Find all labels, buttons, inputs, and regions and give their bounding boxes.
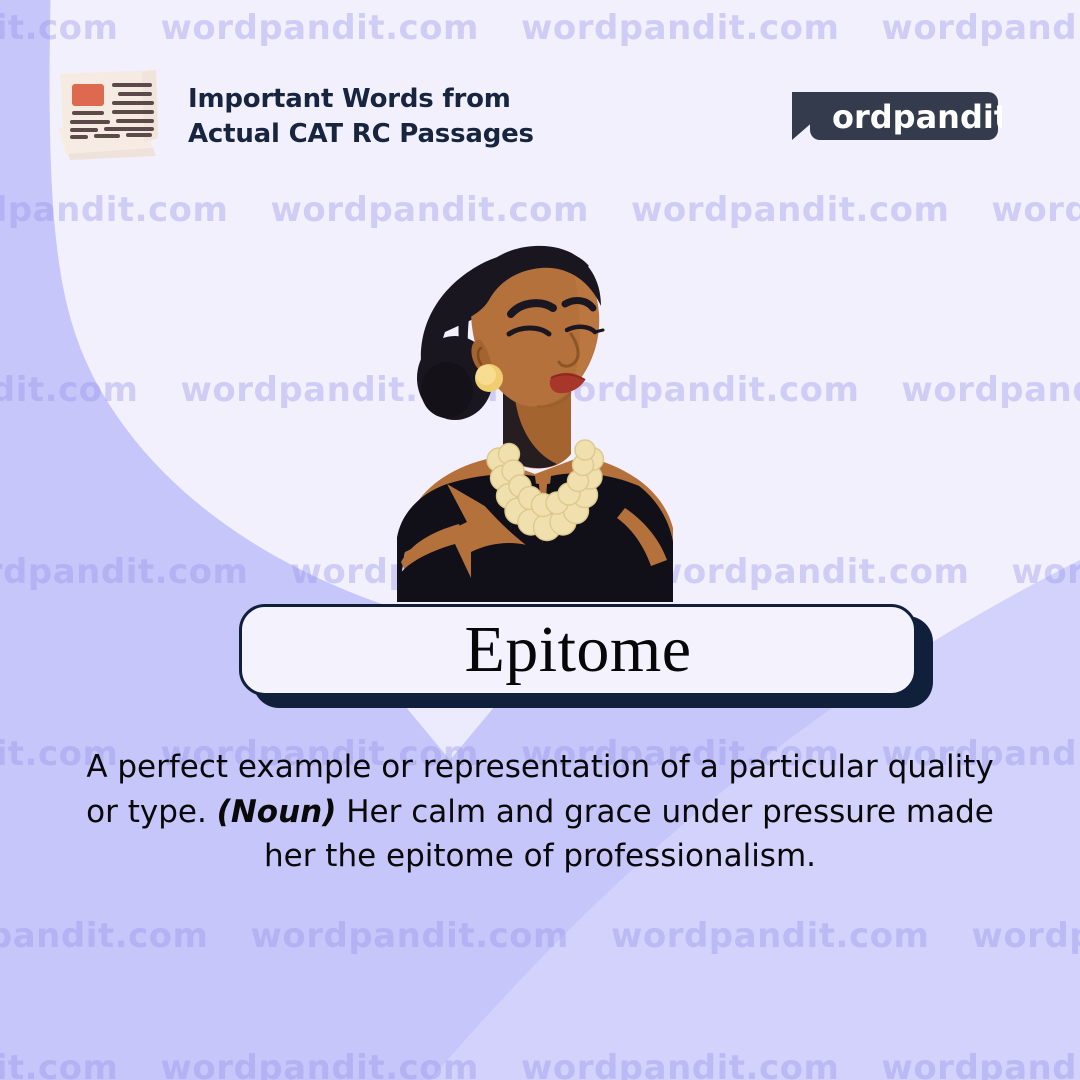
wordpandit-logo-svg: ordpandit	[780, 88, 1002, 144]
vocabulary-word: Epitome	[464, 617, 691, 683]
definition-example: Her calm and grace under pressure made h…	[264, 794, 994, 875]
part-of-speech: (Noun)	[217, 794, 337, 830]
newspaper-icon	[52, 64, 170, 169]
infographic-canvas: wordpandit.comwordpandit.comwordpandit.c…	[0, 0, 1080, 1080]
header-title: Important Words from Actual CAT RC Passa…	[188, 82, 534, 151]
elegant-woman-illustration	[375, 222, 705, 602]
header: Important Words from Actual CAT RC Passa…	[52, 64, 534, 169]
word-card-body: Epitome	[239, 604, 917, 696]
newspaper-icon-svg	[52, 64, 170, 169]
woman-illustration-svg	[375, 222, 705, 602]
logo-text: ordpandit	[832, 98, 1002, 136]
wordpandit-logo[interactable]: ordpandit	[780, 88, 1002, 144]
definition-block: A perfect example or representation of a…	[70, 745, 1010, 879]
word-card: Epitome	[239, 604, 933, 708]
